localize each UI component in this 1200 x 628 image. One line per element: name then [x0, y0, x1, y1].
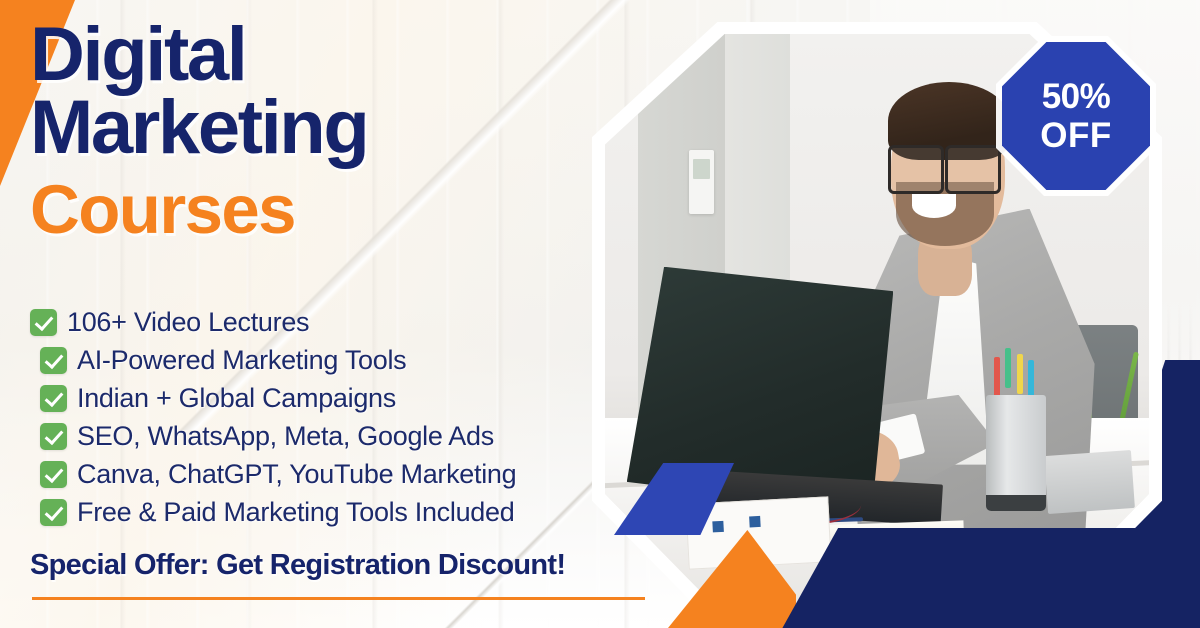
feature-label: Indian + Global Campaigns — [77, 383, 396, 414]
thermostat-icon — [689, 150, 714, 214]
feature-label: Canva, ChatGPT, YouTube Marketing — [77, 459, 516, 490]
check-icon — [40, 423, 67, 450]
check-icon — [30, 309, 57, 336]
pen-holder — [986, 395, 1046, 511]
feature-label: Free & Paid Marketing Tools Included — [77, 497, 514, 528]
promo-banner: 50% OFF Digital Marketing Courses 106+ V… — [0, 0, 1200, 628]
check-icon — [40, 461, 67, 488]
check-icon — [40, 499, 67, 526]
offer-underline — [32, 597, 645, 600]
headline-block: Digital Marketing Courses — [30, 20, 630, 244]
discount-label: OFF — [1040, 118, 1111, 154]
content-column: Digital Marketing Courses 106+ Video Lec… — [0, 0, 660, 628]
feature-label: AI-Powered Marketing Tools — [77, 345, 406, 376]
pen-blue — [1028, 360, 1034, 400]
list-item: SEO, WhatsApp, Meta, Google Ads — [30, 417, 650, 455]
headline-line-1: Digital — [30, 20, 630, 91]
list-item: 106+ Video Lectures — [30, 303, 650, 341]
pen-yellow — [1017, 354, 1023, 394]
check-icon — [40, 347, 67, 374]
list-item: AI-Powered Marketing Tools — [30, 341, 650, 379]
list-item: Free & Paid Marketing Tools Included — [30, 493, 650, 531]
headline-line-2: Marketing — [30, 93, 630, 164]
feature-label: SEO, WhatsApp, Meta, Google Ads — [77, 421, 494, 452]
pen-red — [994, 357, 1000, 397]
feature-list: 106+ Video Lectures AI-Powered Marketing… — [30, 303, 650, 531]
check-icon — [40, 385, 67, 412]
list-item: Canva, ChatGPT, YouTube Marketing — [30, 455, 650, 493]
feature-label: 106+ Video Lectures — [67, 307, 309, 338]
pen-green — [1005, 348, 1011, 388]
discount-percent: 50% — [1042, 79, 1111, 115]
list-item: Indian + Global Campaigns — [30, 379, 650, 417]
eyeglasses-icon — [885, 145, 1005, 189]
subheadline: Courses — [30, 175, 630, 244]
secondary-device — [1044, 450, 1135, 514]
special-offer-text: Special Offer: Get Registration Discount… — [30, 549, 565, 582]
